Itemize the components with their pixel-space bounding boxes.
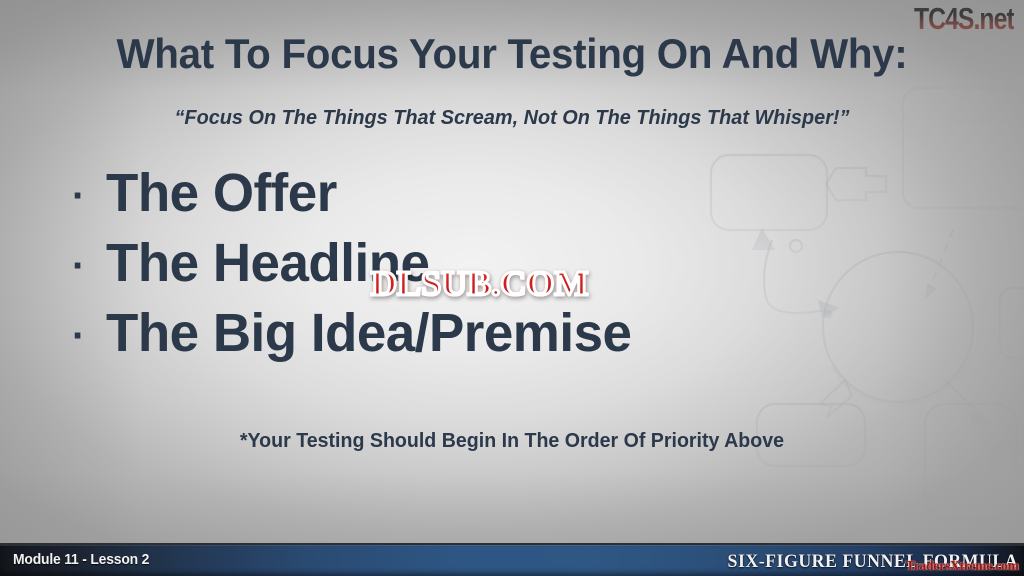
slide-footnote: *Your Testing Should Begin In The Order … [10, 430, 1014, 453]
page-title: What To Focus Your Testing On And Why: [20, 30, 1003, 78]
bullet-label: The Offer [106, 166, 337, 220]
bullet-dot-icon: · [72, 246, 106, 286]
bullet-label: The Big Idea/Premise [106, 306, 631, 360]
slide-subtitle-quote: “Focus On The Things That Scream, Not On… [15, 106, 1008, 130]
slide-canvas: What To Focus Your Testing On And Why: “… [0, 0, 1024, 576]
list-item: · The Big Idea/Premise [72, 306, 832, 376]
watermark-tc4s: TC4S.net [914, 1, 1014, 37]
footer-bar: Module 11 - Lesson 2 SIX-FIGURE FUNNEL F… [0, 543, 1024, 576]
watermark-dlsub: DLSUB.COM [371, 264, 588, 304]
footer-module-label: Module 11 - Lesson 2 [13, 552, 149, 568]
bullet-dot-icon: · [72, 316, 106, 356]
bullet-dot-icon: · [72, 176, 106, 216]
watermark-tradersxtreme: TradersXtreme.com [906, 559, 1019, 575]
list-item: · The Offer [72, 166, 832, 236]
